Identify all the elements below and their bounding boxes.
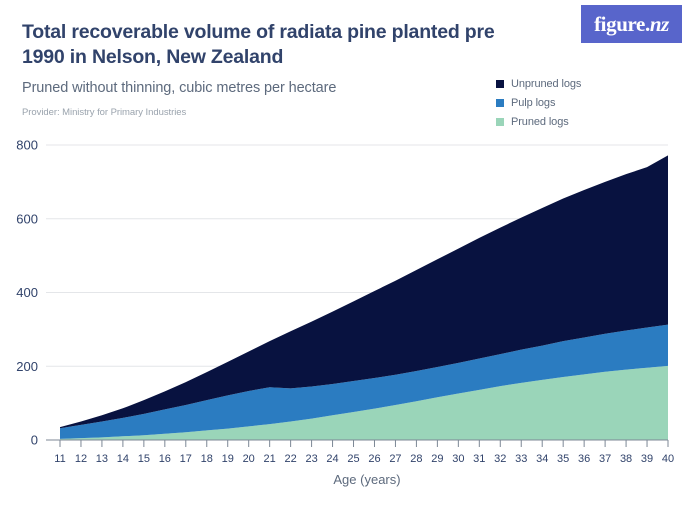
svg-text:40: 40 <box>662 453 674 465</box>
svg-text:37: 37 <box>599 453 611 465</box>
svg-text:32: 32 <box>494 453 506 465</box>
svg-text:0: 0 <box>31 433 38 448</box>
svg-text:24: 24 <box>326 453 338 465</box>
svg-text:30: 30 <box>452 453 464 465</box>
svg-text:34: 34 <box>536 453 548 465</box>
svg-text:23: 23 <box>305 453 317 465</box>
svg-text:36: 36 <box>578 453 590 465</box>
svg-text:15: 15 <box>138 453 150 465</box>
svg-text:17: 17 <box>180 453 192 465</box>
chart-plot-area: 0200400600800 11121314151617181920212223… <box>0 0 700 525</box>
svg-text:11: 11 <box>54 453 65 465</box>
svg-text:31: 31 <box>473 453 485 465</box>
svg-text:14: 14 <box>117 453 129 465</box>
svg-text:12: 12 <box>75 453 87 465</box>
area-series-group <box>60 155 668 440</box>
svg-text:33: 33 <box>515 453 527 465</box>
svg-text:22: 22 <box>284 453 296 465</box>
svg-text:600: 600 <box>16 211 38 226</box>
svg-text:35: 35 <box>557 453 569 465</box>
svg-text:38: 38 <box>620 453 632 465</box>
svg-text:19: 19 <box>222 453 234 465</box>
svg-text:20: 20 <box>243 453 255 465</box>
svg-text:18: 18 <box>201 453 213 465</box>
svg-text:16: 16 <box>159 453 171 465</box>
stacked-area-chart: 0200400600800 11121314151617181920212223… <box>0 0 700 525</box>
chart-page: Total recoverable volume of radiata pine… <box>0 0 700 525</box>
y-axis-ticks: 0200400600800 <box>16 138 60 448</box>
x-axis-title-text: Age (years) <box>333 472 400 487</box>
svg-text:39: 39 <box>641 453 653 465</box>
svg-text:400: 400 <box>16 285 38 300</box>
svg-text:200: 200 <box>16 359 38 374</box>
svg-text:25: 25 <box>347 453 359 465</box>
x-axis-ticks: 1112131415161718192021222324252627282930… <box>54 440 674 465</box>
svg-text:26: 26 <box>368 453 380 465</box>
svg-text:28: 28 <box>410 453 422 465</box>
svg-text:13: 13 <box>96 453 108 465</box>
svg-text:21: 21 <box>264 453 276 465</box>
x-axis-title: Age (years) <box>0 472 700 487</box>
svg-text:800: 800 <box>16 138 38 153</box>
svg-text:29: 29 <box>431 453 443 465</box>
svg-text:27: 27 <box>389 453 401 465</box>
